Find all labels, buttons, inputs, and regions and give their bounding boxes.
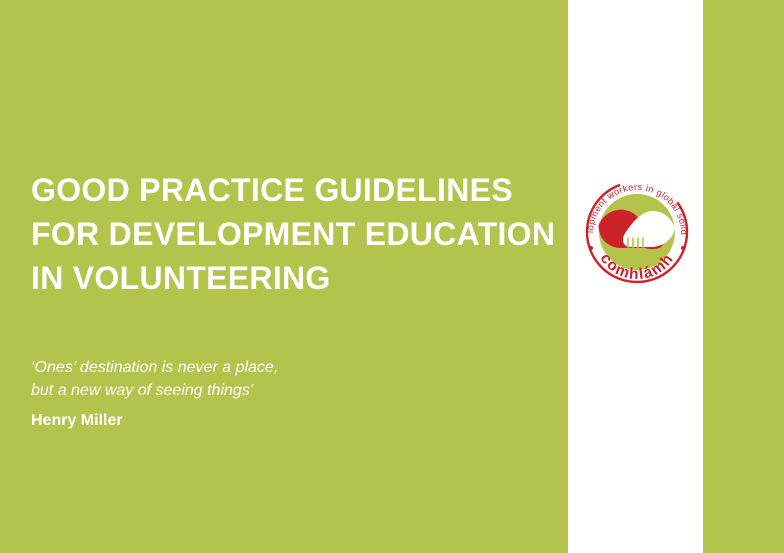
- cover-quote: ‘Ones’ destination is never a place, but…: [31, 356, 451, 402]
- title-line-3: IN VOLUNTEERING: [31, 256, 531, 300]
- logo-dot-left: [589, 246, 593, 250]
- quote-attribution: Henry Miller: [31, 412, 123, 430]
- title-line-1: GOOD PRACTICE GUIDELINES: [31, 168, 531, 212]
- title-line-2: FOR DEVELOPMENT EDUCATION: [31, 212, 531, 256]
- quote-line-1: ‘Ones’ destination is never a place,: [31, 356, 451, 379]
- quote-line-2: but a new way of seeing things’: [31, 379, 451, 402]
- logo-dot-right: [681, 246, 685, 250]
- back-flap-panel: [703, 0, 784, 553]
- comhlamh-logo: development workers in global solidarity…: [581, 172, 693, 294]
- book-cover: GOOD PRACTICE GUIDELINES FOR DEVELOPMENT…: [0, 0, 784, 553]
- page-title: GOOD PRACTICE GUIDELINES FOR DEVELOPMENT…: [31, 168, 531, 300]
